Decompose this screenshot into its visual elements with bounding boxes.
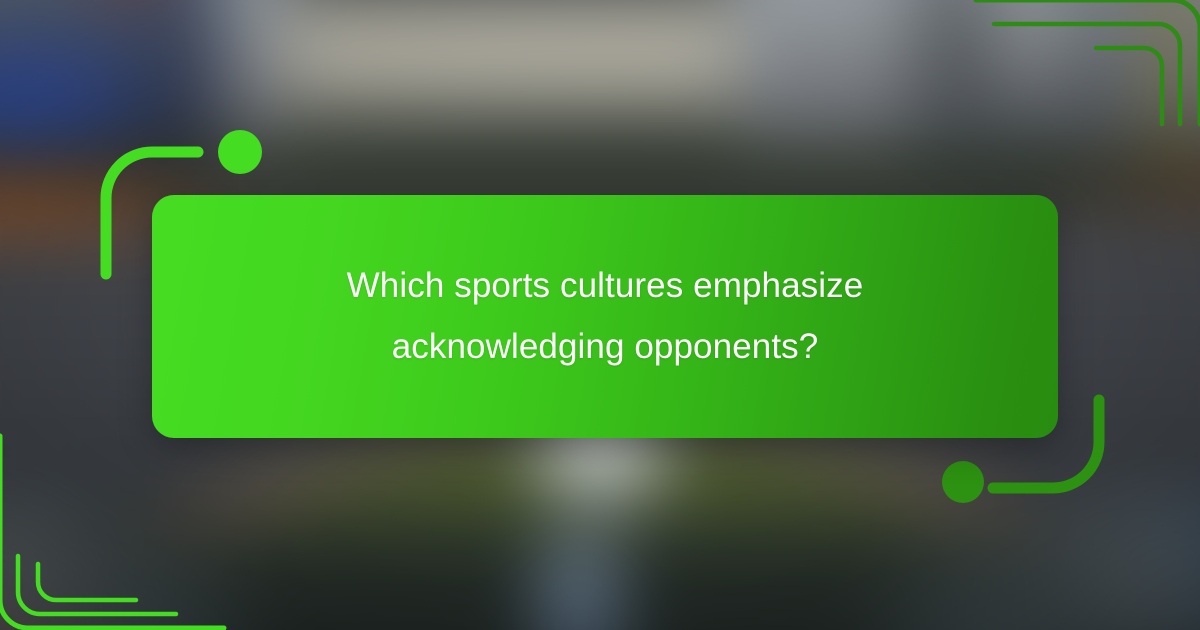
screenshot-canvas: Which sports cultures emphasize acknowle… (0, 0, 1200, 630)
question-card: Which sports cultures emphasize acknowle… (152, 195, 1058, 438)
question-text: Which sports cultures emphasize acknowle… (305, 256, 905, 376)
